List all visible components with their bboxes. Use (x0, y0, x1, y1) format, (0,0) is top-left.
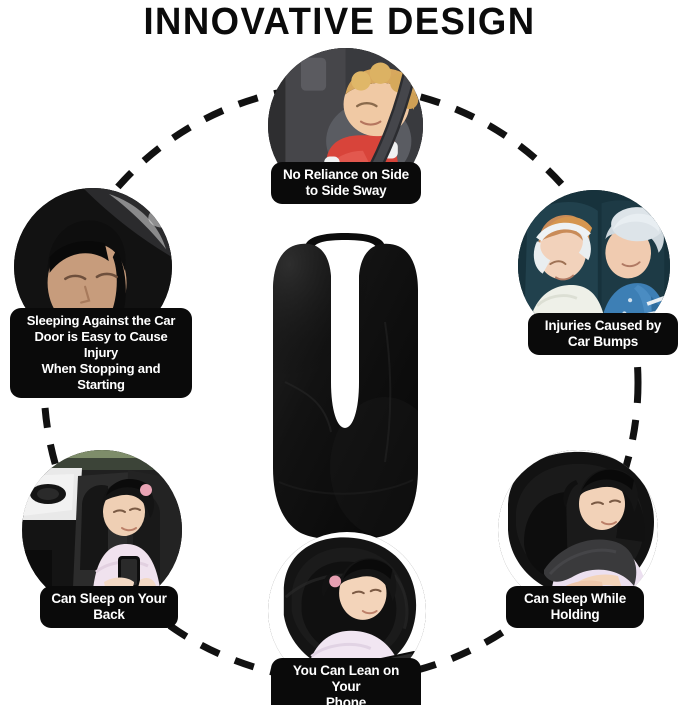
feature-caption-bottom: You Can Lean on Your Phone (271, 658, 421, 705)
feature-caption-bottom-right: Can Sleep While Holding (506, 586, 644, 628)
feature-caption-right: Injuries Caused by Car Bumps (528, 313, 678, 355)
product-illustration (265, 232, 425, 552)
infographic-canvas: INNOVATIVE DESIGN (0, 0, 679, 705)
feature-caption-left: Sleeping Against the Car Door is Easy to… (10, 308, 192, 398)
feature-caption-bottom-left: Can Sleep on Your Back (40, 586, 178, 628)
feature-caption-top: No Reliance on Side to Side Sway (271, 162, 421, 204)
